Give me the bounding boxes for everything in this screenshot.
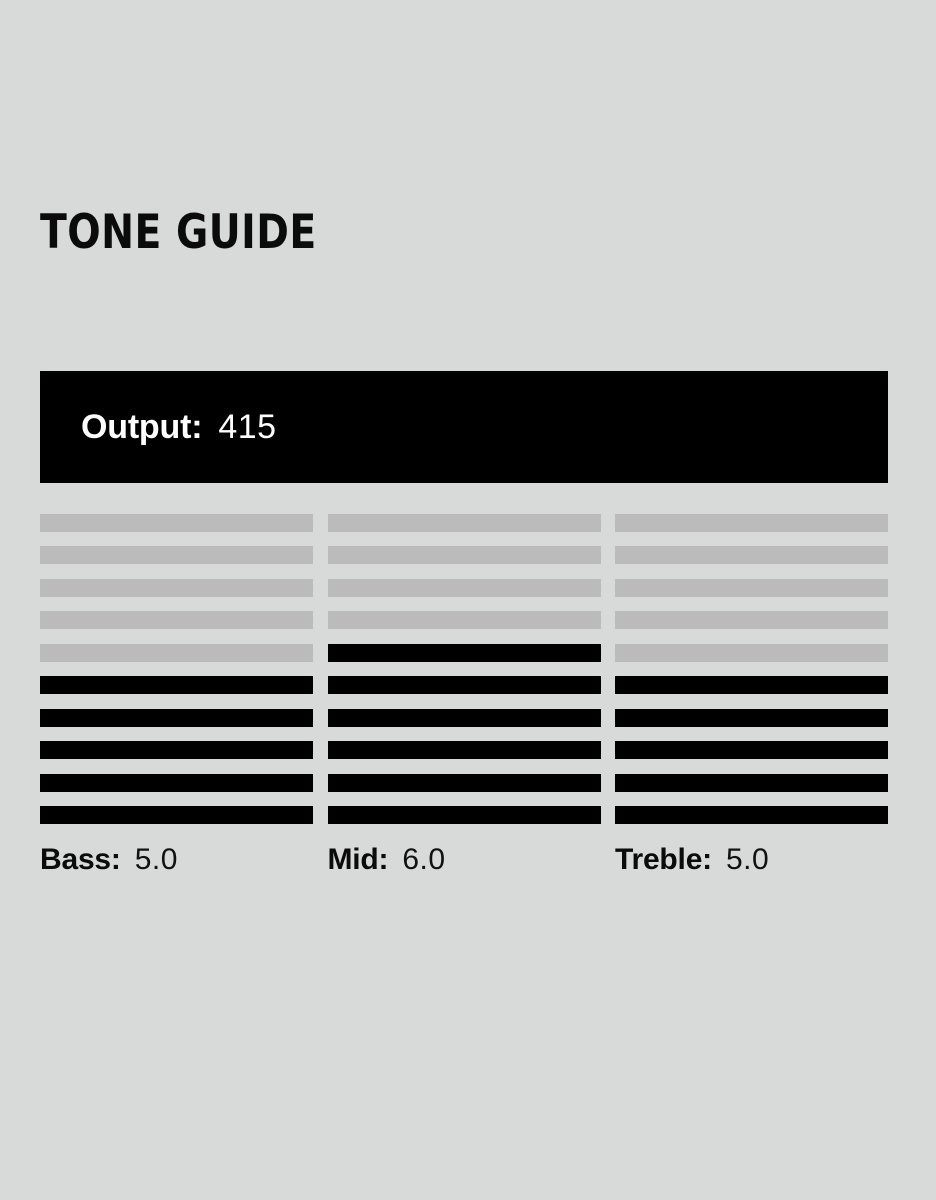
meter-segment[interactable]	[615, 579, 888, 597]
tone-meters	[40, 514, 888, 824]
meter-column-bass[interactable]	[40, 514, 313, 824]
meter-label-name: Bass:	[40, 843, 121, 877]
meter-column-mid[interactable]	[328, 514, 601, 824]
meter-label-value: 6.0	[402, 843, 445, 877]
meter-segment[interactable]	[328, 676, 601, 694]
meter-segment[interactable]	[328, 709, 601, 727]
meter-label-mid: Mid:6.0	[328, 843, 601, 877]
meter-label-value: 5.0	[726, 843, 769, 877]
meter-segment[interactable]	[40, 676, 313, 694]
meter-segment[interactable]	[615, 774, 888, 792]
meter-segment[interactable]	[328, 546, 601, 564]
meter-column-treble[interactable]	[615, 514, 888, 824]
meter-segment[interactable]	[40, 774, 313, 792]
meter-segment[interactable]	[328, 514, 601, 532]
page-title: TONE GUIDE	[40, 208, 317, 258]
meter-segment[interactable]	[328, 579, 601, 597]
meter-segment[interactable]	[328, 806, 601, 824]
meter-segment[interactable]	[40, 741, 313, 759]
meter-label-name: Treble:	[615, 843, 712, 877]
meter-segment[interactable]	[615, 546, 888, 564]
meter-segment[interactable]	[328, 774, 601, 792]
meter-label-bass: Bass:5.0	[40, 843, 313, 877]
meter-segment[interactable]	[615, 676, 888, 694]
meter-segment[interactable]	[40, 579, 313, 597]
meter-segment[interactable]	[615, 741, 888, 759]
meter-segment[interactable]	[40, 644, 313, 662]
meter-segment[interactable]	[615, 806, 888, 824]
meter-segment[interactable]	[40, 546, 313, 564]
meter-segment[interactable]	[40, 611, 313, 629]
output-value: 415	[218, 408, 276, 447]
meter-segment[interactable]	[615, 644, 888, 662]
output-label: Output:	[81, 408, 202, 447]
meter-segment[interactable]	[328, 644, 601, 662]
meter-label-treble: Treble:5.0	[615, 843, 888, 877]
meter-segment[interactable]	[40, 514, 313, 532]
meter-segment[interactable]	[40, 709, 313, 727]
meter-segment[interactable]	[615, 514, 888, 532]
tone-guide-panel: TONE GUIDE Output: 415 Bass:5.0Mid:6.0Tr…	[0, 0, 936, 1200]
meter-label-name: Mid:	[328, 843, 389, 877]
output-banner-content: Output: 415	[81, 408, 277, 447]
meter-segment[interactable]	[328, 741, 601, 759]
meter-segment[interactable]	[328, 611, 601, 629]
tone-meter-labels: Bass:5.0Mid:6.0Treble:5.0	[40, 843, 888, 877]
meter-segment[interactable]	[40, 806, 313, 824]
meter-segment[interactable]	[615, 709, 888, 727]
meter-segment[interactable]	[615, 611, 888, 629]
output-banner: Output: 415	[40, 371, 888, 483]
meter-label-value: 5.0	[135, 843, 178, 877]
